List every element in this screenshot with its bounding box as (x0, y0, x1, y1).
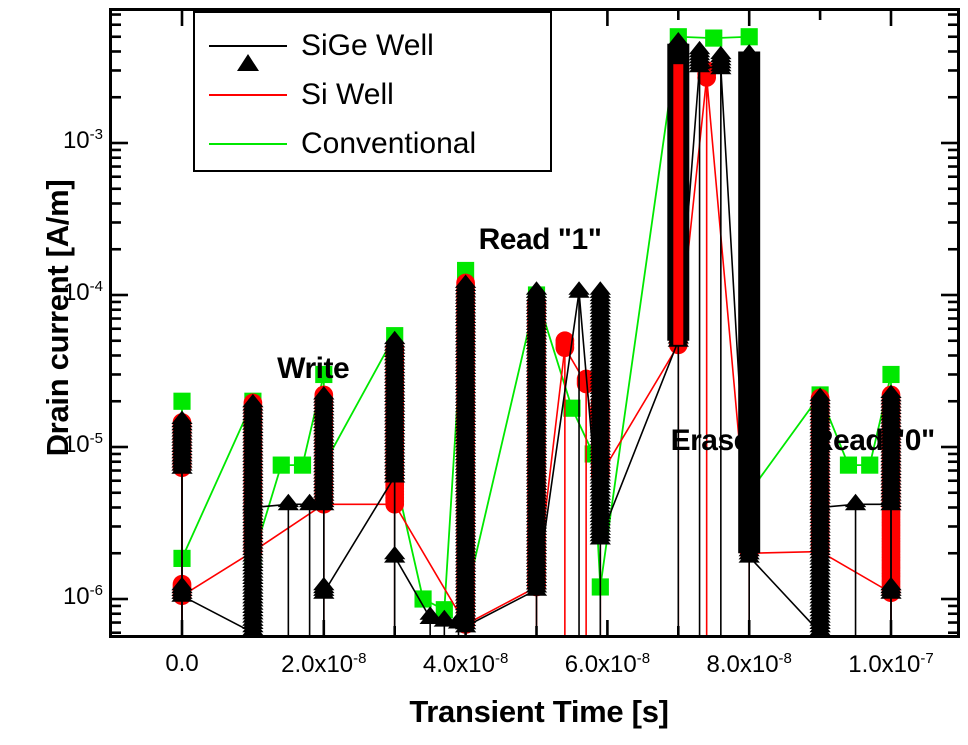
legend-marker-sige-well (209, 34, 287, 58)
legend-label-sige-well: SiGe Well (301, 31, 434, 61)
annotation-3: Read "0" (812, 424, 935, 458)
x-tick-label-5: 1.0x10-7 (848, 650, 933, 679)
x-tick-label-1: 2.0x10-8 (281, 650, 366, 679)
legend-item-2[interactable]: Conventional (209, 119, 536, 168)
chart-legend[interactable]: SiGe Well Si Well Conventional (193, 11, 552, 172)
annotation-1: Read "1" (479, 223, 602, 257)
y-axis-tick-labels: 10-310-410-510-6 (0, 0, 103, 745)
x-tick-label-4: 8.0x10-8 (706, 650, 791, 679)
y-tick-label-2: 10-5 (63, 430, 103, 459)
y-tick-label-3: 10-6 (63, 582, 103, 611)
legend-item-0[interactable]: SiGe Well (209, 21, 536, 70)
x-tick-label-2: 4.0x10-8 (423, 650, 508, 679)
x-axis-title: Transient Time [s] (109, 694, 968, 730)
y-tick-label-0: 10-3 (63, 126, 103, 155)
annotation-2: Erase (671, 424, 750, 458)
legend-marker-si-well (209, 83, 287, 107)
x-tick-label-3: 6.0x10-8 (565, 650, 650, 679)
legend-label-conventional: Conventional (301, 129, 476, 159)
legend-item-1[interactable]: Si Well (209, 70, 536, 119)
legend-label-si-well: Si Well (301, 80, 394, 110)
x-tick-label-0: 0.0 (165, 650, 198, 678)
legend-marker-conventional (209, 132, 287, 156)
chart-figure: Drain current [A/m] 10-310-410-510-6 Wri… (0, 0, 968, 745)
y-tick-label-1: 10-4 (63, 278, 103, 307)
annotation-0: Write (277, 352, 349, 386)
